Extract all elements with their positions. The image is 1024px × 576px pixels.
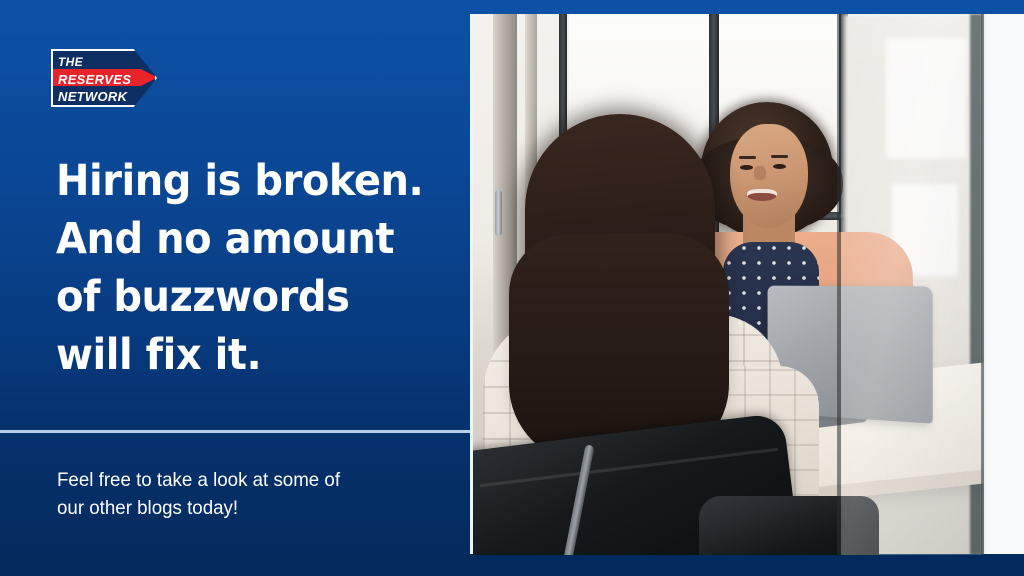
interviewer-face [730,124,808,228]
door-handle [495,190,502,236]
headline-line-2: And no amount [56,210,428,268]
social-graphic-canvas: THE RESERVES NETWORK Hiring is broken. A… [0,0,1024,576]
interviewer-eyebrow [739,156,756,159]
bottom-blue-band [0,554,1024,576]
logo-text-block: THE RESERVES NETWORK [51,49,157,107]
logo-line-reserves: RESERVES [58,71,157,88]
glass-partition-edge [837,14,841,555]
candidate-hair [525,114,715,444]
interviewer-eye [773,164,786,169]
the-reserves-network-logo[interactable]: THE RESERVES NETWORK [51,49,157,107]
interviewer-eyebrow [771,155,788,158]
office-chair-secondary [699,496,879,555]
top-blue-band [470,0,1024,14]
subtext-line-2: our other blogs today! [57,494,431,522]
interviewer-nose [754,166,766,180]
subtext: Feel free to take a look at some of our … [57,466,431,522]
headline-line-4: will fix it. [56,326,428,384]
headline-line-1: Hiring is broken. [56,152,428,210]
glass-partition-edge [981,14,984,555]
logo-line-network: NETWORK [58,88,157,105]
horizontal-divider [0,430,470,433]
headline-line-3: of buzzwords [56,268,428,326]
background-shelf [886,38,966,158]
subtext-line-1: Feel free to take a look at some of [57,466,431,494]
interviewer-eye [740,165,753,170]
photo-inner [473,14,984,555]
interviewer-mouth [747,189,777,201]
logo-line-the: THE [58,54,157,71]
headline: Hiring is broken. And no amount of buzzw… [56,152,428,384]
right-white-margin [986,14,1024,555]
office-interview-photo [470,14,986,555]
